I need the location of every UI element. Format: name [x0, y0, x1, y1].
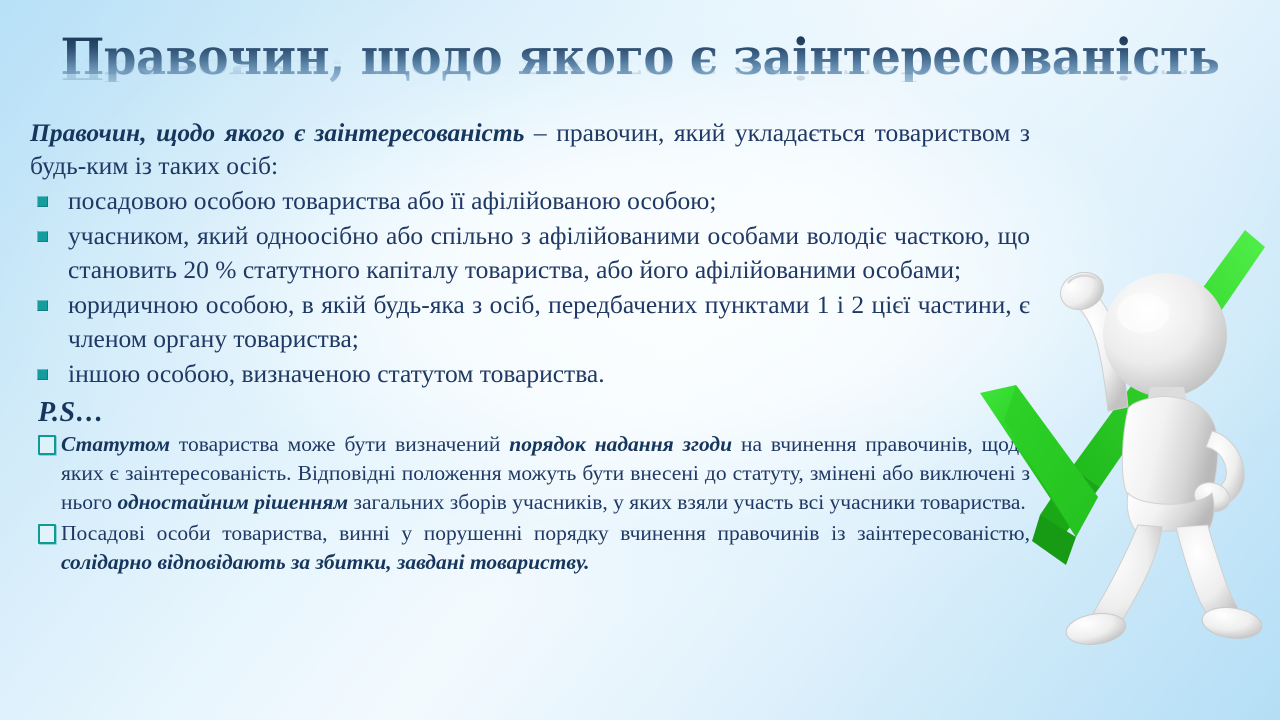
ps-emphasis: Статутом	[61, 432, 170, 456]
checkbox-bullet-icon	[38, 435, 56, 455]
ps-list: Статутом товариства може бути визначений…	[30, 430, 1030, 577]
list-item: посадовою особою товариства або її афілі…	[30, 184, 1030, 218]
slide-canvas: Правочин, щодо якого є заінтересованість…	[0, 0, 1280, 720]
checkbox-bullet-icon	[38, 524, 56, 544]
list-item: юридичною особою, в якій будь-яка з осіб…	[30, 288, 1030, 356]
list-item: учасником, який одноосібно або спільно з…	[30, 219, 1030, 287]
ps-emphasis: солідарно відповідають за збитки, завдан…	[61, 550, 590, 574]
slide-body: Правочин, щодо якого є заінтересованість…	[30, 116, 1030, 579]
3d-person-figure	[1055, 266, 1264, 645]
page-title-reflection: Правочин, щодо якого є заінтересованість	[45, 56, 1235, 84]
conditions-list: посадовою особою товариства або її афілі…	[30, 184, 1030, 391]
slide-title-block: Правочин, щодо якого є заінтересованість…	[0, 32, 1280, 122]
list-item: іншою особою, визначеною статутом товари…	[30, 357, 1030, 391]
ps-emphasis: одностайним рішенням	[117, 490, 348, 514]
list-item-text: посадовою особою товариства або її афілі…	[68, 186, 716, 215]
ps-text: товариства може бути визначений	[170, 432, 509, 456]
definition-term: Правочин, щодо якого є заінтересованість	[30, 118, 524, 147]
list-item: Статутом товариства може бути визначений…	[30, 430, 1030, 517]
square-bullet-icon	[37, 300, 48, 311]
list-item-text: учасником, який одноосібно або спільно з…	[68, 221, 1030, 284]
list-item-text: юридичною особою, в якій будь-яка з осіб…	[68, 290, 1030, 353]
page-title: Правочин, щодо якого є заінтересованість	[45, 32, 1235, 82]
square-bullet-icon	[37, 231, 48, 242]
ps-text: загальних зборів учасників, у яких взяли…	[348, 490, 1026, 514]
square-bullet-icon	[37, 196, 48, 207]
list-item-text: іншою особою, визначеною статутом товари…	[68, 359, 605, 388]
list-item: Посадові особи товариства, винні у поруш…	[30, 519, 1030, 577]
ps-text: Посадові особи товариства, винні у поруш…	[61, 521, 1030, 545]
definition-paragraph: Правочин, щодо якого є заінтересованість…	[30, 116, 1030, 182]
ps-heading: P.S…	[38, 397, 1030, 429]
ps-emphasis: порядок надання згоди	[509, 432, 732, 456]
square-bullet-icon	[37, 369, 48, 380]
